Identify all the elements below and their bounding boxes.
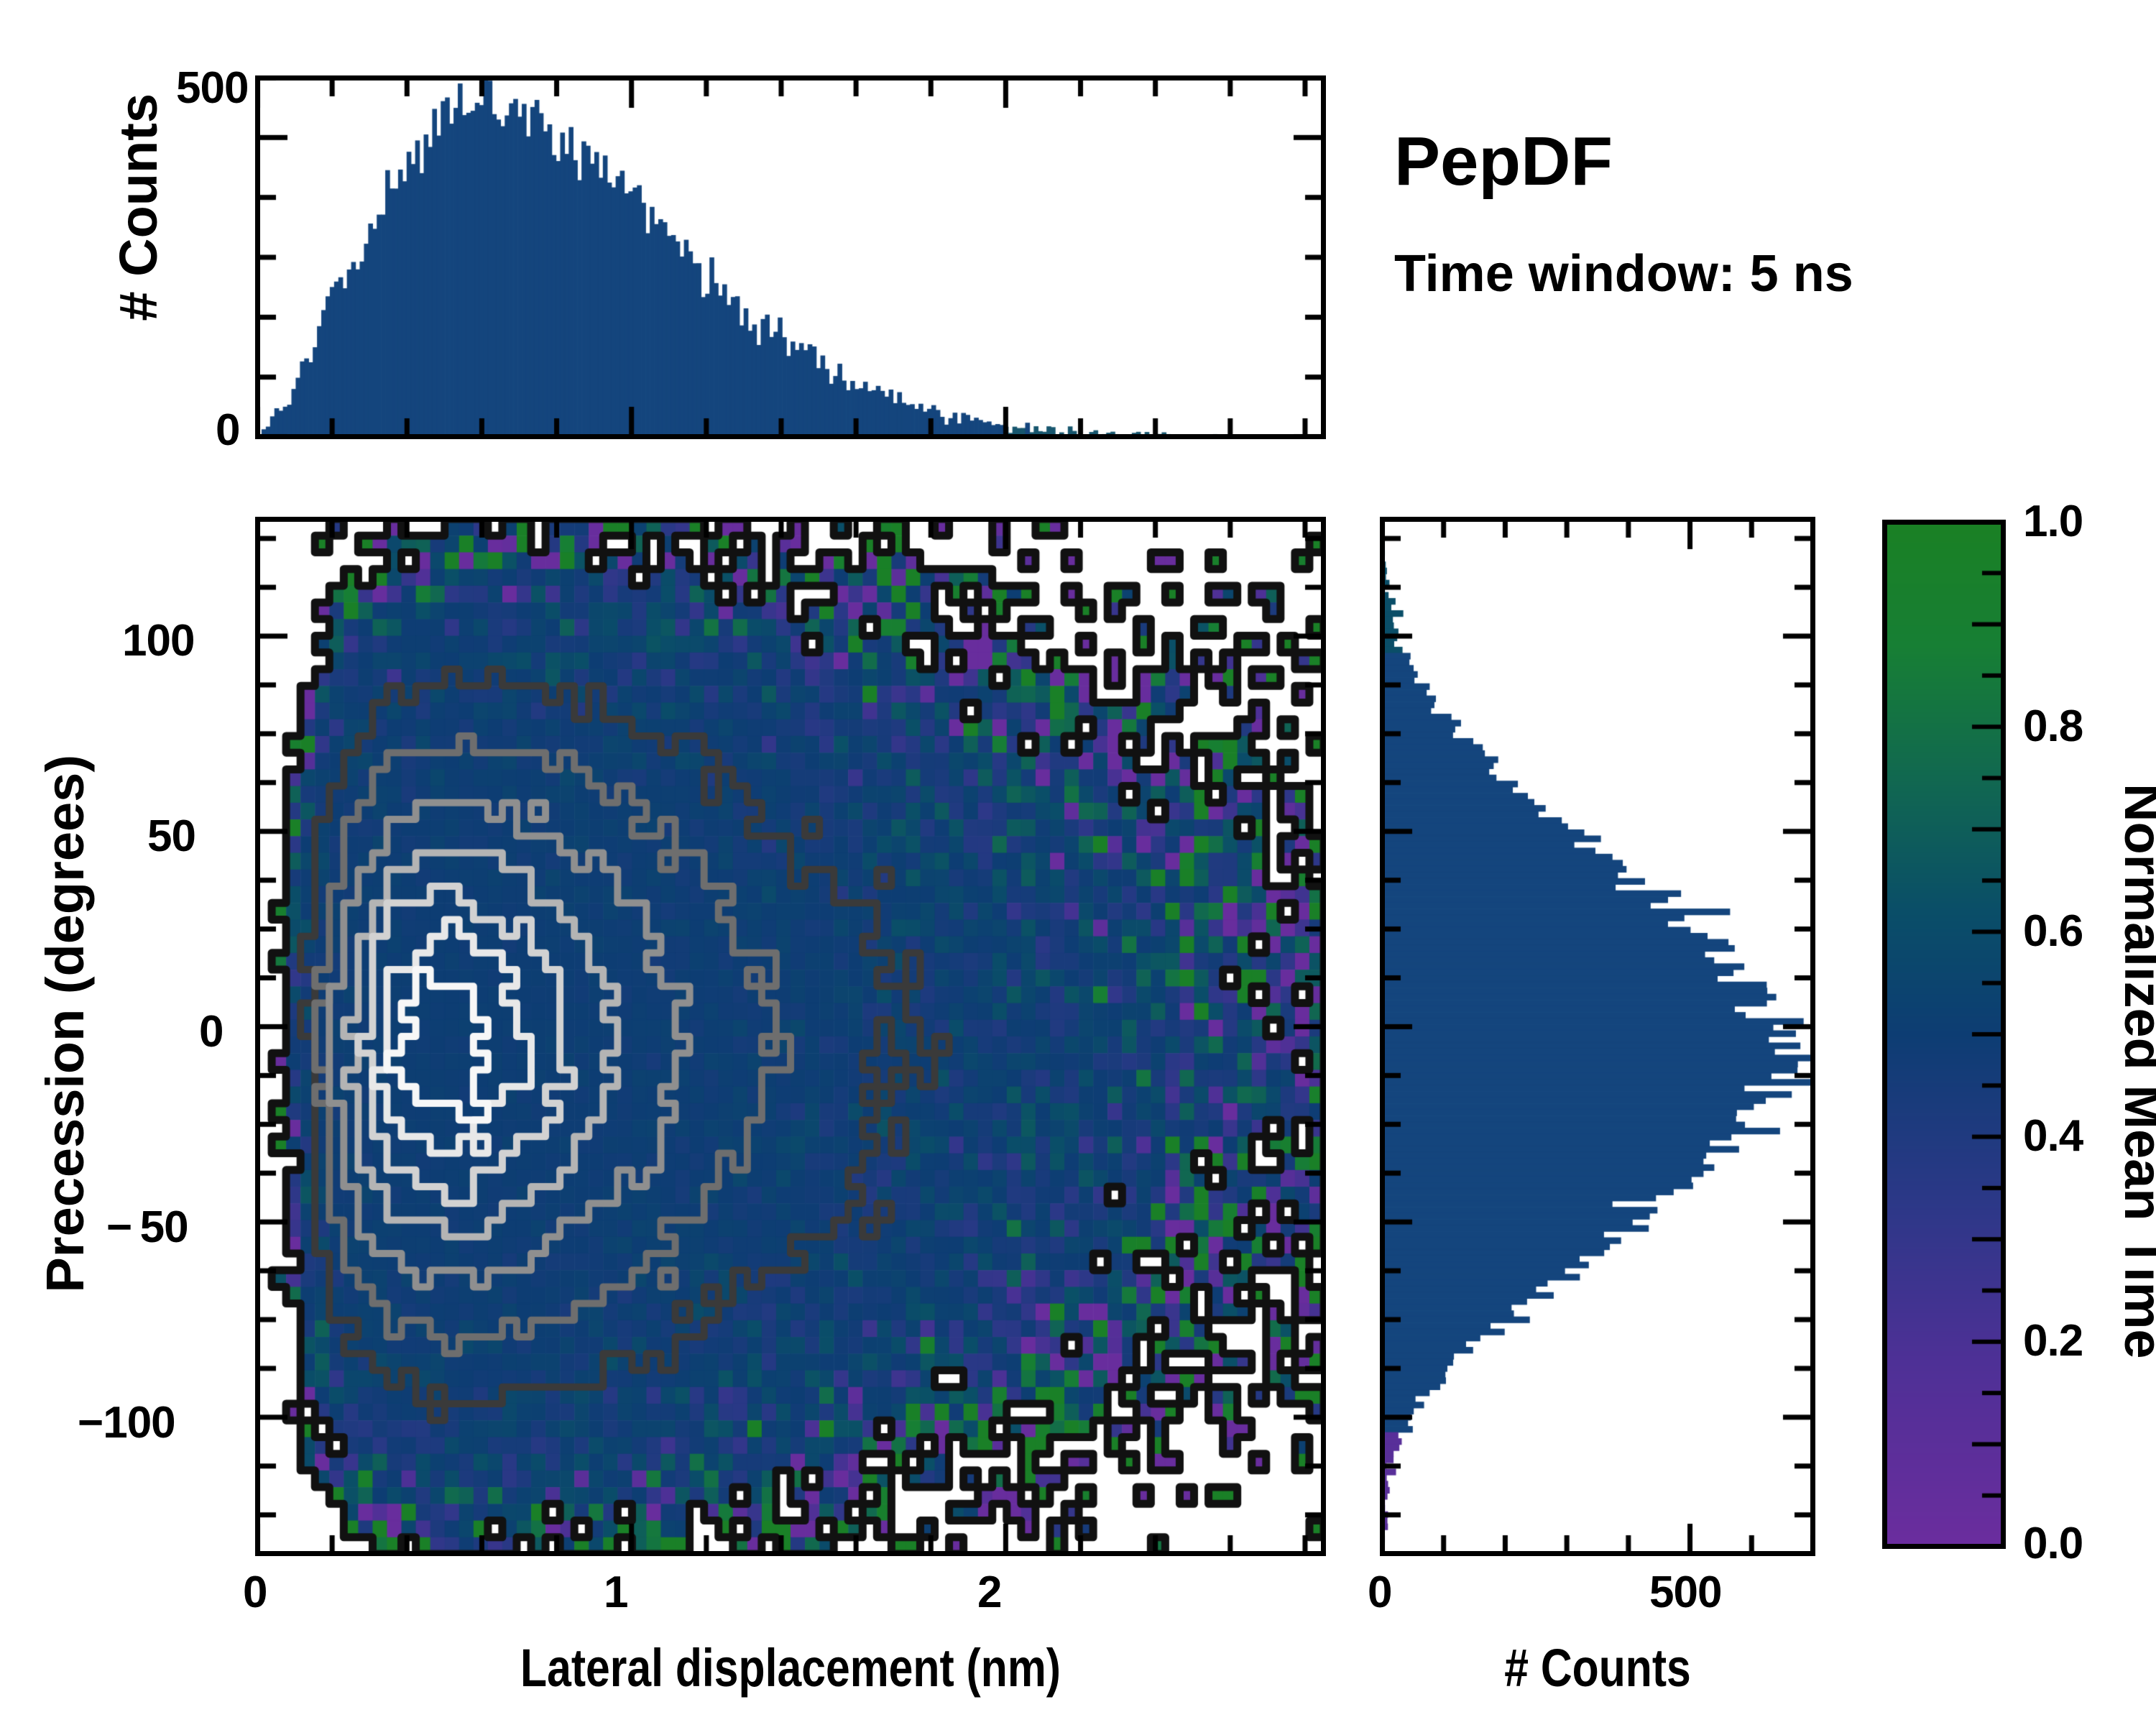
- main-xlabel: Lateral displacement (nm): [791, 1637, 1450, 1698]
- colorbar-tick-0p0: 0.0: [2023, 1518, 2083, 1569]
- right-xlabel: # Counts: [1598, 1637, 1825, 1698]
- colorbar-tick-0p2: 0.2: [2023, 1315, 2083, 1366]
- main-ytick-0: 0: [199, 1006, 223, 1057]
- page-title: PepDF: [1394, 122, 1613, 201]
- main-xtick-1: 1: [604, 1567, 627, 1618]
- colorbar-tick-0p6: 0.6: [2023, 906, 2083, 957]
- right-xtick-0: 0: [1368, 1567, 1391, 1618]
- main-heatmap-canvas: [257, 519, 1324, 1554]
- main-xtick-2: 2: [977, 1567, 1001, 1618]
- right-histogram-canvas: [1382, 519, 1813, 1554]
- main-xtick-0: 0: [243, 1567, 267, 1618]
- main-ytick-neg50: − 50: [106, 1202, 188, 1253]
- figure-root: 500 0 # Counts PepDF Time window: 5 ns 1…: [0, 0, 2156, 1725]
- top-ytick-0: 0: [216, 405, 239, 456]
- main-ytick-100: 100: [122, 615, 194, 666]
- colorbar-gradient: [1884, 522, 2004, 1547]
- main-ytick-neg100: −100: [78, 1397, 175, 1448]
- figure-subtitle: Time window: 5 ns: [1394, 244, 1853, 303]
- top-histogram-canvas: [257, 78, 1324, 437]
- colorbar-tick-0p8: 0.8: [2023, 701, 2083, 752]
- right-xtick-500: 500: [1649, 1567, 1721, 1618]
- colorbar-tick-0p4: 0.4: [2023, 1110, 2083, 1161]
- top-ytick-500: 500: [176, 63, 248, 114]
- top-ylabel: # Counts: [108, 93, 169, 321]
- main-ytick-50: 50: [147, 811, 195, 862]
- main-ylabel: Precession (degrees): [34, 755, 96, 1293]
- colorbar-label: Normalized Mean Time: [2113, 783, 2156, 1359]
- colorbar-tick-1p0: 1.0: [2023, 496, 2083, 547]
